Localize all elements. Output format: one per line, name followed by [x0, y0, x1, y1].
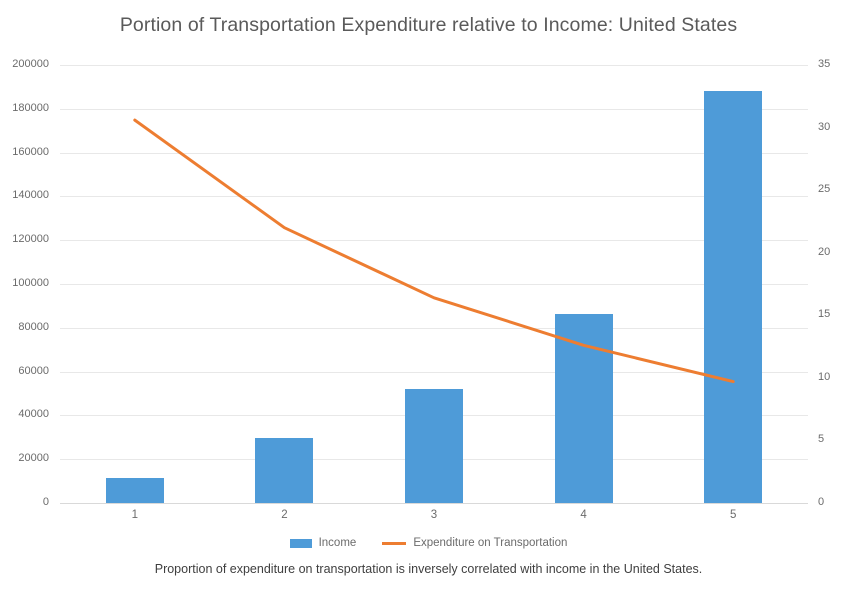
chart-title: Portion of Transportation Expenditure re…	[0, 14, 857, 37]
y-axis-right-tick-label: 25	[818, 184, 830, 195]
legend-item-expenditure[interactable]: Expenditure on Transportation	[382, 537, 567, 549]
chart-legend: Income Expenditure on Transportation	[0, 537, 857, 549]
x-axis-tick-label: 5	[703, 510, 763, 522]
y-axis-right-tick-label: 0	[818, 497, 824, 508]
y-axis-right-tick-label: 20	[818, 247, 830, 258]
y-axis-left-tick-label: 140000	[12, 190, 49, 201]
chart-caption: Proportion of expenditure on transportat…	[0, 562, 857, 576]
bar[interactable]	[704, 91, 762, 503]
y-axis-left-tick-label: 80000	[18, 322, 49, 333]
gridline	[60, 240, 808, 241]
gridline	[60, 503, 808, 504]
y-axis-left-tick-label: 160000	[12, 147, 49, 158]
plot-area	[60, 65, 808, 503]
y-axis-left-tick-label: 40000	[18, 409, 49, 420]
y-axis-right-tick-label: 35	[818, 59, 830, 70]
y-axis-right-tick-label: 30	[818, 122, 830, 133]
y-axis-left-tick-label: 60000	[18, 366, 49, 377]
bar[interactable]	[106, 478, 164, 503]
y-axis-right-tick-label: 10	[818, 372, 830, 383]
gridline	[60, 284, 808, 285]
x-axis-tick-label: 1	[105, 510, 165, 522]
bar[interactable]	[405, 389, 463, 504]
legend-label-income: Income	[319, 537, 357, 549]
gridline	[60, 196, 808, 197]
expenditure-line-path	[135, 120, 733, 382]
y-axis-left-tick-label: 120000	[12, 234, 49, 245]
gridline	[60, 372, 808, 373]
legend-swatch-bar-icon	[290, 539, 312, 548]
y-axis-right-tick-label: 15	[818, 309, 830, 320]
bar[interactable]	[255, 438, 313, 503]
y-axis-left-tick-label: 100000	[12, 278, 49, 289]
y-axis-left-tick-label: 180000	[12, 103, 49, 114]
legend-item-income[interactable]: Income	[290, 537, 357, 549]
y-axis-left-tick-label: 20000	[18, 453, 49, 464]
legend-label-expenditure: Expenditure on Transportation	[413, 537, 567, 549]
gridline	[60, 109, 808, 110]
y-axis-left-tick-label: 0	[43, 497, 49, 508]
gridline	[60, 153, 808, 154]
gridline	[60, 328, 808, 329]
bar[interactable]	[555, 314, 613, 503]
x-axis-tick-label: 4	[554, 510, 614, 522]
x-axis-tick-label: 2	[254, 510, 314, 522]
chart-figure: Portion of Transportation Expenditure re…	[0, 0, 857, 589]
y-axis-left-tick-label: 200000	[12, 59, 49, 70]
x-axis-tick-label: 3	[404, 510, 464, 522]
gridline	[60, 65, 808, 66]
y-axis-right-tick-label: 5	[818, 434, 824, 445]
legend-swatch-line-icon	[382, 542, 406, 545]
